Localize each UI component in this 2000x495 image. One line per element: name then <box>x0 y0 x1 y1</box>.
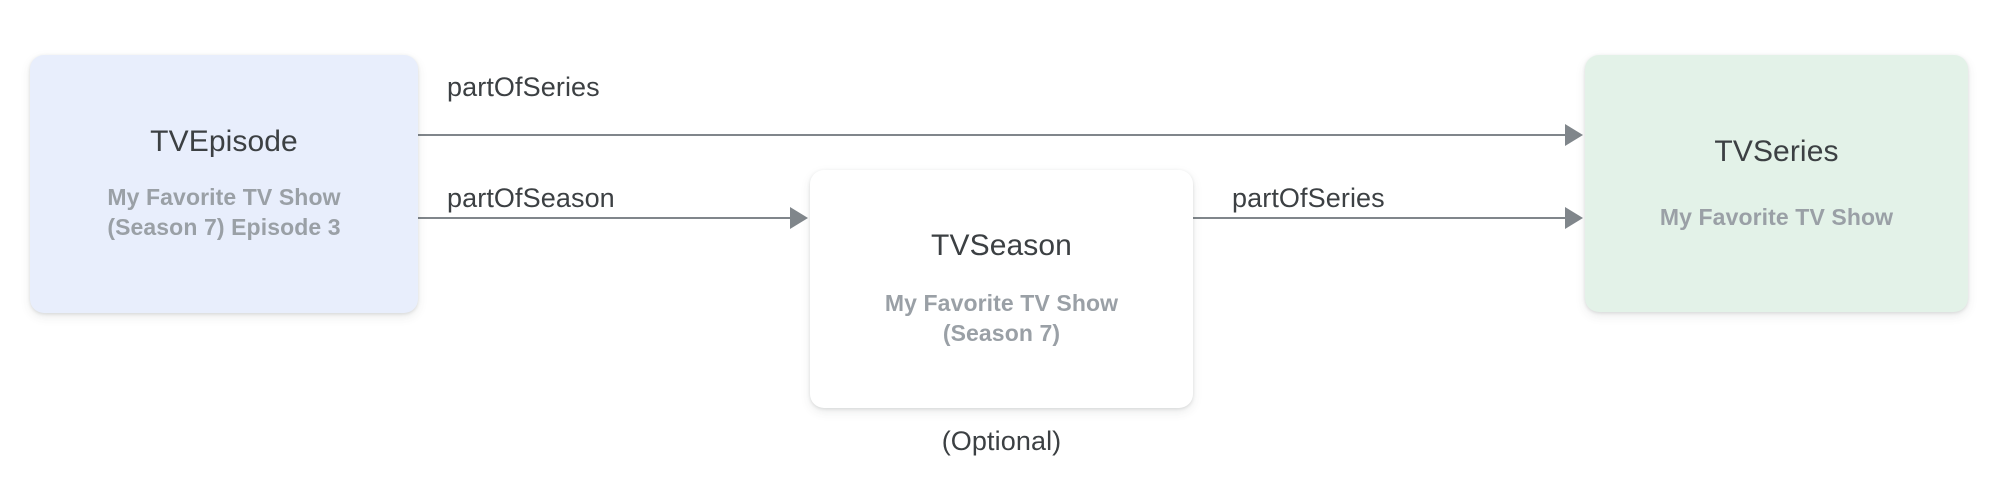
edge-label-part-of-series-bottom: partOfSeries <box>1232 185 1385 212</box>
node-tvseries[interactable]: TVSeries My Favorite TV Show <box>1585 55 1968 312</box>
arrowhead-icon-season-to-series <box>1565 207 1583 229</box>
node-tvseason-title: TVSeason <box>931 229 1072 264</box>
node-tvepisode-subtitle: My Favorite TV Show (Season 7) Episode 3 <box>107 182 340 243</box>
node-tvepisode-title: TVEpisode <box>150 125 298 160</box>
edge-episode-to-season-line <box>418 217 792 219</box>
arrowhead-icon-episode-to-season <box>790 207 808 229</box>
edge-season-to-series-line <box>1193 217 1567 219</box>
arrowhead-icon-episode-to-series <box>1565 124 1583 146</box>
edge-episode-to-series-line <box>418 134 1567 136</box>
node-tvseason-optional-note: (Optional) <box>810 428 1193 455</box>
edge-label-part-of-series-top: partOfSeries <box>447 74 600 101</box>
diagram-canvas: partOfSeries partOfSeason partOfSeries T… <box>0 0 2000 495</box>
node-tvseries-subtitle: My Favorite TV Show <box>1660 202 1893 232</box>
edge-label-part-of-season: partOfSeason <box>447 185 615 212</box>
node-tvepisode[interactable]: TVEpisode My Favorite TV Show (Season 7)… <box>30 55 418 313</box>
node-tvseries-title: TVSeries <box>1714 135 1838 170</box>
node-tvseason-subtitle: My Favorite TV Show (Season 7) <box>885 288 1118 349</box>
node-tvseason[interactable]: TVSeason My Favorite TV Show (Season 7) <box>810 170 1193 408</box>
